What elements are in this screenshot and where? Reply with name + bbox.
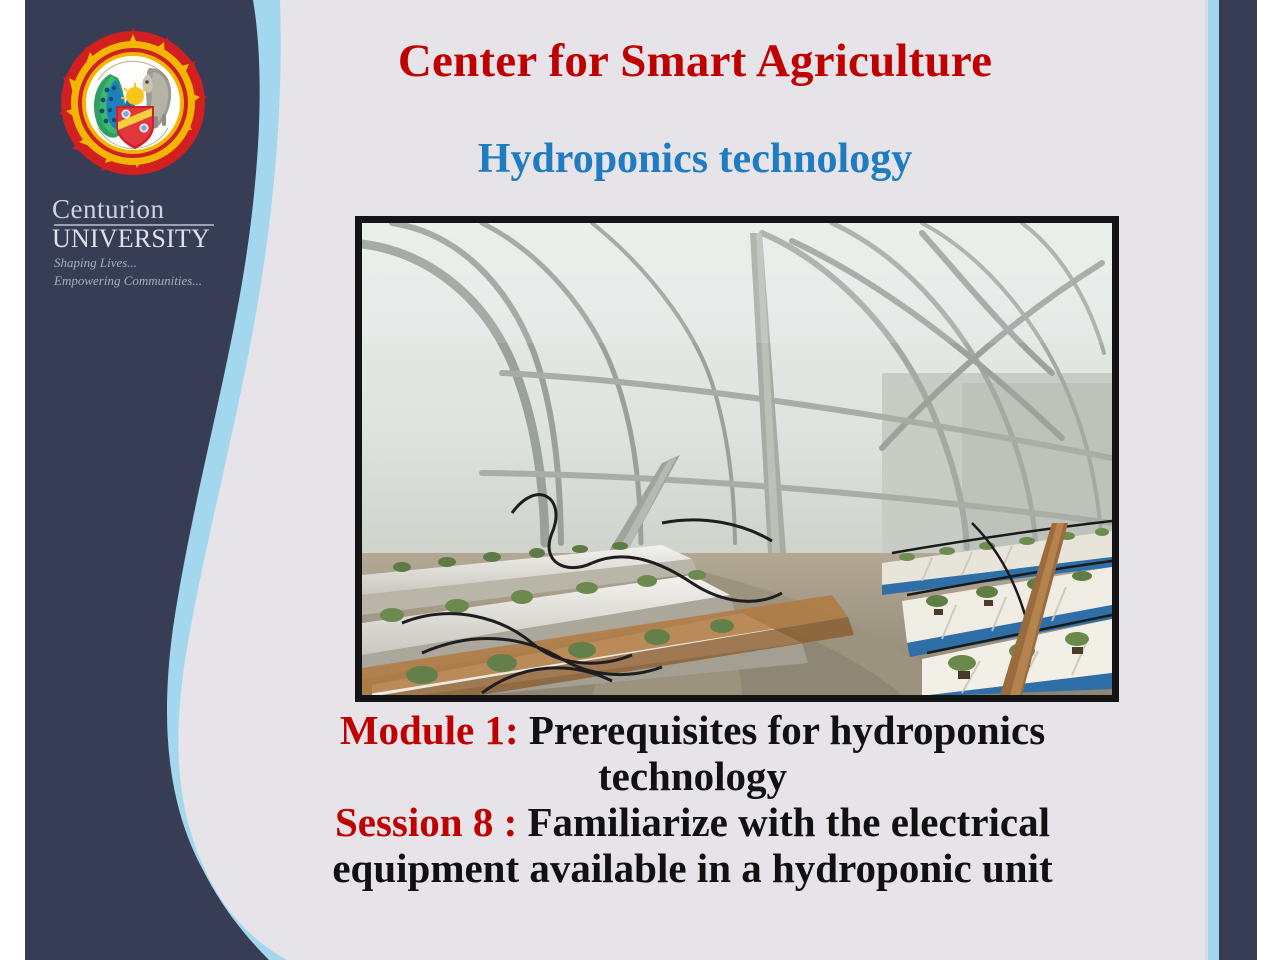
right-edge-light-blue-band bbox=[1208, 0, 1219, 960]
logo-word-centurion: Centurion bbox=[52, 196, 227, 223]
logo-tagline-line-1: Shaping Lives... bbox=[54, 256, 137, 269]
caption-module-line-2: technology bbox=[225, 754, 1160, 800]
module-text: Prerequisites for hydroponics bbox=[519, 707, 1046, 753]
greenhouse-photo bbox=[355, 216, 1119, 702]
session-label: Session 8 : bbox=[335, 799, 517, 845]
session-text: Familiarize with the electrical bbox=[517, 799, 1050, 845]
caption-module-line-1: Module 1: Prerequisites for hydroponics bbox=[225, 708, 1160, 754]
centurion-crest-icon bbox=[58, 28, 208, 178]
logo-word-university: UNIVERSITY bbox=[52, 226, 227, 252]
right-edge-navy-band bbox=[1219, 0, 1257, 960]
slide-canvas: Centurion UNIVERSITY Shaping Lives... Em… bbox=[0, 0, 1280, 960]
university-logo: Centurion UNIVERSITY Shaping Lives... Em… bbox=[52, 28, 227, 268]
logo-tagline-line-2: Empowering Communities... bbox=[54, 274, 202, 287]
module-label: Module 1: bbox=[340, 707, 519, 753]
caption-session-line-2: equipment available in a hydroponic unit bbox=[225, 846, 1160, 892]
subtitle: Hydroponics technology bbox=[300, 136, 1090, 182]
header-title: Center for Smart Agriculture bbox=[300, 36, 1090, 88]
caption-session-line-1: Session 8 : Familiarize with the electri… bbox=[225, 800, 1160, 846]
slide-caption: Module 1: Prerequisites for hydroponics … bbox=[225, 708, 1160, 892]
